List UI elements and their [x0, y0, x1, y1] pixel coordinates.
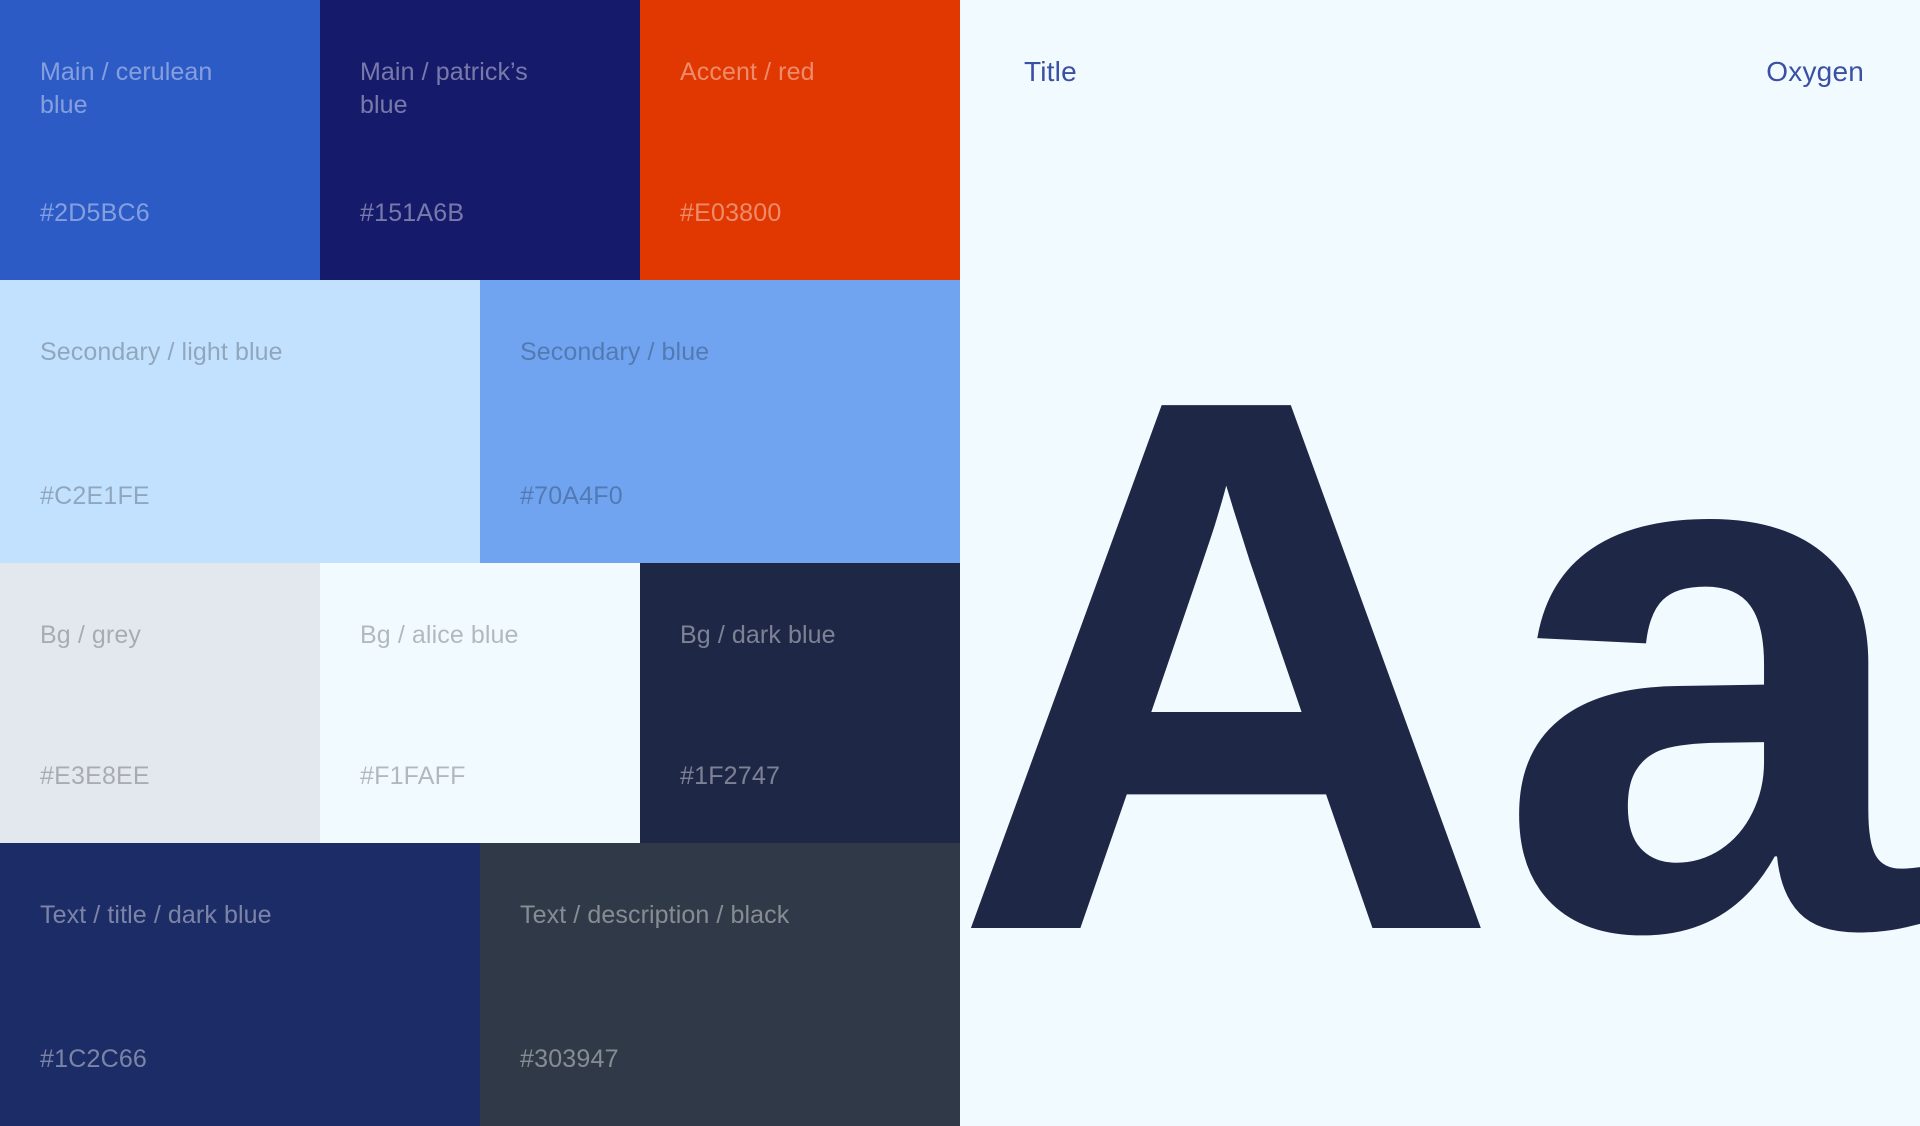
swatch-name: Secondary / blue	[520, 336, 872, 369]
swatch-hex-value: #151A6B	[360, 198, 600, 228]
color-swatch-main-patricks-blue[interactable]: Main / patrick’s blue #151A6B	[320, 0, 640, 280]
typography-panel: Title Oxygen Aa	[960, 0, 1920, 1126]
swatch-hex-value: #C2E1FE	[40, 481, 440, 511]
swatch-hex-value: #303947	[520, 1044, 920, 1074]
color-swatch-text-description-black[interactable]: Text / description / black #303947	[480, 843, 960, 1126]
swatch-hex-value: #1F2747	[680, 761, 920, 791]
swatch-hex-value: #F1FAFF	[360, 761, 600, 791]
swatch-hex-value: #70A4F0	[520, 481, 920, 511]
swatch-name: Text / title / dark blue	[40, 899, 392, 932]
style-guide-page: Main / cerulean blue #2D5BC6 Main / patr…	[0, 0, 1920, 1126]
swatch-hex-value: #E03800	[680, 198, 920, 228]
color-swatch-text-title-dark-blue[interactable]: Text / title / dark blue #1C2C66	[0, 843, 480, 1126]
color-swatch-secondary-light-blue[interactable]: Secondary / light blue #C2E1FE	[0, 280, 480, 563]
swatch-name: Secondary / light blue	[40, 336, 392, 369]
swatch-name: Bg / alice blue	[360, 619, 571, 652]
swatch-name: Bg / dark blue	[680, 619, 891, 652]
color-swatch-bg-alice-blue[interactable]: Bg / alice blue #F1FAFF	[320, 563, 640, 843]
swatch-name: Accent / red	[680, 56, 891, 89]
color-palette-panel: Main / cerulean blue #2D5BC6 Main / patr…	[0, 0, 960, 1126]
swatch-name: Main / cerulean blue	[40, 56, 251, 122]
swatch-name: Bg / grey	[40, 619, 251, 652]
typography-specimen-glyphs: Aa	[960, 286, 1916, 1046]
typography-section-label: Title	[1024, 56, 1077, 88]
swatch-hex-value: #1C2C66	[40, 1044, 440, 1074]
typography-header: Title Oxygen	[1024, 56, 1864, 88]
typography-specimen: Aa	[960, 286, 1920, 1126]
color-swatch-main-cerulean-blue[interactable]: Main / cerulean blue #2D5BC6	[0, 0, 320, 280]
swatch-hex-value: #2D5BC6	[40, 198, 280, 228]
color-swatch-bg-grey[interactable]: Bg / grey #E3E8EE	[0, 563, 320, 843]
swatch-name: Main / patrick’s blue	[360, 56, 571, 122]
color-swatch-secondary-blue[interactable]: Secondary / blue #70A4F0	[480, 280, 960, 563]
swatch-name: Text / description / black	[520, 899, 872, 932]
swatch-hex-value: #E3E8EE	[40, 761, 280, 791]
color-swatch-accent-red[interactable]: Accent / red #E03800	[640, 0, 960, 280]
typography-font-name: Oxygen	[1766, 56, 1864, 88]
color-swatch-bg-dark-blue[interactable]: Bg / dark blue #1F2747	[640, 563, 960, 843]
